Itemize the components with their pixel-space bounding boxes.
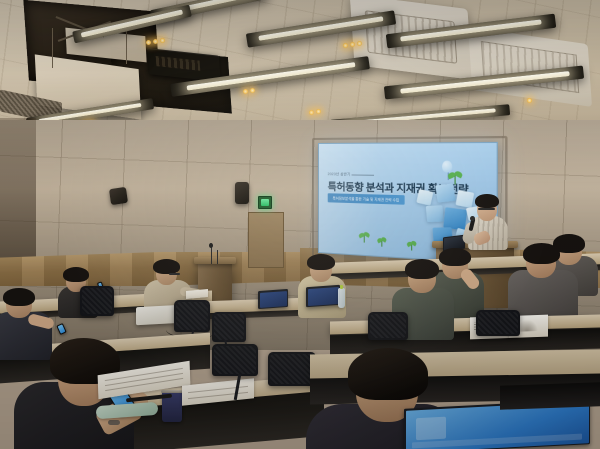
water-bottle-1[interactable]: [338, 288, 345, 308]
office-chair-6[interactable]: [212, 344, 258, 376]
exit-sign: [258, 196, 272, 209]
office-chair-7[interactable]: [268, 352, 316, 386]
wall-speaker-2: [235, 182, 249, 204]
laptop-1[interactable]: [306, 285, 340, 307]
wristwatch: [108, 420, 120, 425]
lectern-microphone-stand: [211, 246, 212, 264]
office-chair-3[interactable]: [212, 312, 246, 342]
office-chair-4[interactable]: [368, 312, 408, 340]
wall-corner-shadow: [0, 118, 36, 258]
presenter: [462, 192, 518, 252]
exit-door[interactable]: [248, 212, 284, 268]
desk-shadow-right: [500, 382, 600, 409]
laptop-2[interactable]: [258, 289, 288, 309]
office-chair-2[interactable]: [174, 300, 210, 332]
presenter-glasses: [478, 208, 495, 210]
wall-speaker: [109, 187, 128, 205]
photo-scene: 2023년 상반기 특허동향 분석과 지재권 확보전략 특허정보분석을 통한 기…: [0, 0, 600, 449]
office-chair-5[interactable]: [476, 310, 520, 336]
lectern-microphone: [209, 243, 213, 248]
presenter-hair: [475, 194, 499, 208]
office-chair-1[interactable]: [80, 286, 114, 316]
